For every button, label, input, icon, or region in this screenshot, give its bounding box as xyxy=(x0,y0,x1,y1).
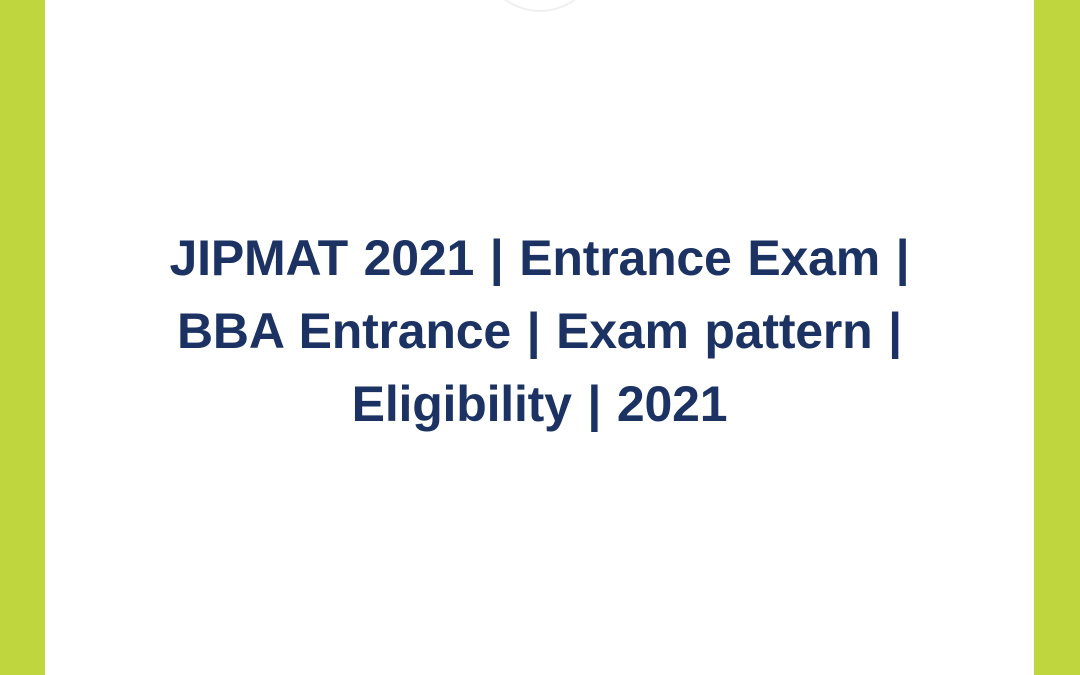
page-title: JIPMAT 2021 | Entrance Exam | BBA Entran… xyxy=(85,222,994,441)
page-title-line-3: Eligibility | 2021 xyxy=(352,376,728,432)
title-block: JIPMAT 2021 | Entrance Exam | BBA Entran… xyxy=(45,222,1034,441)
left-accent-bar xyxy=(0,0,45,675)
page-title-line-1: JIPMAT 2021 | Entrance Exam | xyxy=(170,230,910,286)
page-title-line-2: BBA Entrance | Exam pattern | xyxy=(177,303,902,359)
card-content: JIPMAT 2021 | Entrance Exam | BBA Entran… xyxy=(45,0,1034,675)
article-card: JIPMAT 2021 | Entrance Exam | BBA Entran… xyxy=(0,0,1080,675)
right-accent-bar xyxy=(1034,0,1080,675)
